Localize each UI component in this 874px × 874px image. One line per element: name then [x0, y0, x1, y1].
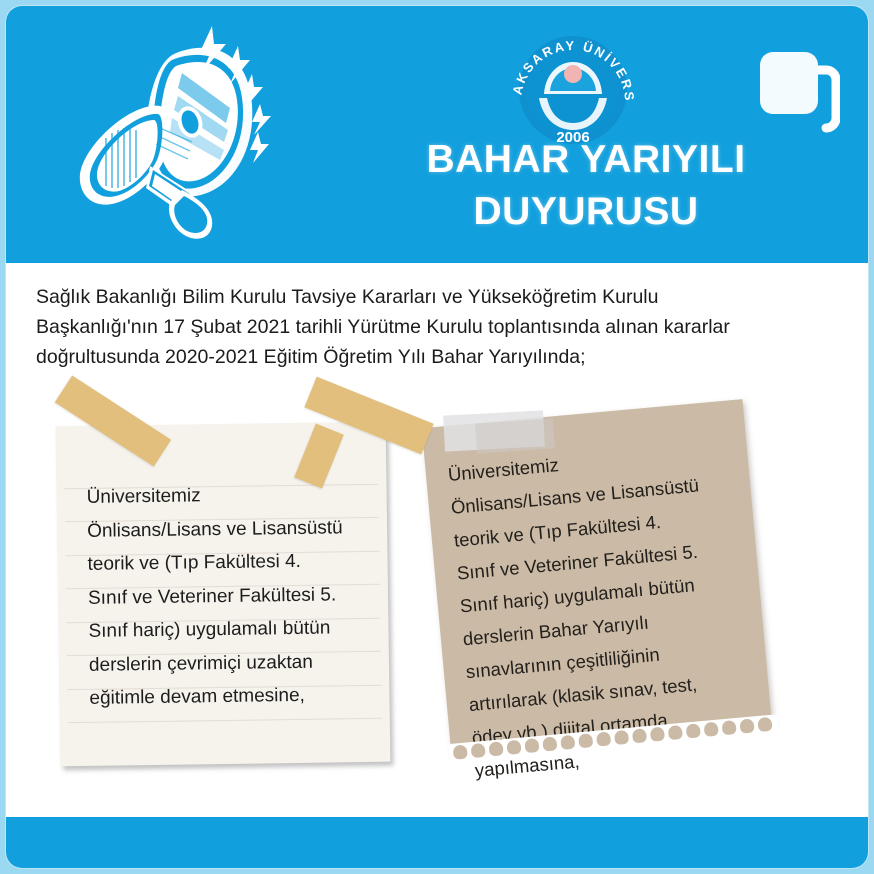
note-left-line-1: Önlisans/Lisans ve Lisansüstü: [87, 510, 377, 548]
sticky-note-left-text: Üniversitemiz Önlisans/Lisans ve Lisansü…: [86, 477, 379, 716]
tape-strip-right-clear-2: [475, 418, 555, 453]
university-logo: AKSARAY ÜNİVERSİTESİ 2006: [503, 28, 643, 148]
sticky-note-left: Üniversitemiz Önlisans/Lisans ve Lisansü…: [56, 422, 391, 767]
title-line-1: BAHAR YARIYILI: [386, 134, 786, 186]
note-left-line-2: teorik ve (Tıp Fakültesi 4.: [87, 544, 377, 582]
note-left-line-5: derslerin çevrimiçi uzaktan: [89, 644, 379, 682]
note-left-line-3: Sınıf ve Veteriner Fakültesi 5.: [88, 577, 378, 615]
intro-line-3: doğrultusunda 2020-2021 Eğitim Öğretim Y…: [36, 342, 836, 372]
intro-line-2: Başkanlığı'nın 17 Şubat 2021 tarihli Yür…: [36, 312, 836, 342]
notes-area: Üniversitemiz Önlisans/Lisans ve Lisansü…: [6, 391, 868, 791]
note-left-line-6: eğitimle devam etmesine,: [89, 678, 379, 716]
poster-header: AKSARAY ÜNİVERSİTESİ 2006 BAHAR YARIYILI…: [6, 6, 868, 263]
note-left-line-4: Sınıf hariç) uygulamalı bütün: [88, 611, 378, 649]
poster-footer-bar: [6, 817, 868, 868]
announcement-poster: AKSARAY ÜNİVERSİTESİ 2006 BAHAR YARIYILI…: [6, 6, 868, 868]
intro-line-1: Sağlık Bakanlığı Bilim Kurulu Tavsiye Ka…: [36, 282, 836, 312]
title-line-2: DUYURUSU: [386, 186, 786, 238]
sticky-note-right: Üniversitemiz Önlisans/Lisans ve Lisansü…: [422, 399, 773, 757]
intro-paragraph: Sağlık Bakanlığı Bilim Kurulu Tavsiye Ka…: [36, 282, 836, 372]
copy-layers-icon[interactable]: [754, 44, 840, 136]
note-left-line-0: Üniversitemiz: [86, 477, 376, 515]
megaphone-icon: [54, 18, 334, 248]
page-title: BAHAR YARIYILI DUYURUSU: [386, 134, 786, 238]
